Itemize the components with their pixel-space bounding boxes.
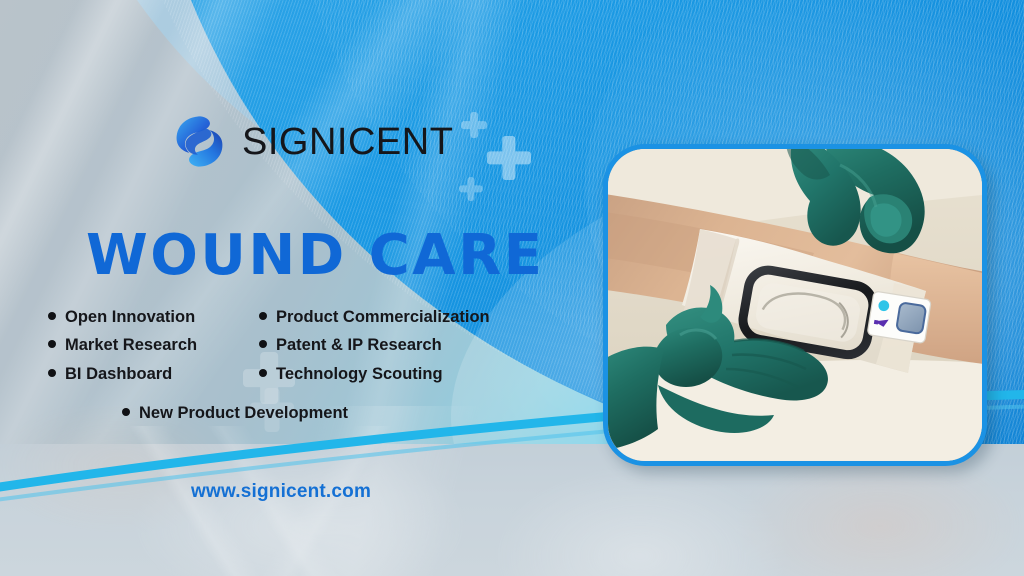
list-item: Market Research xyxy=(48,336,243,355)
list-item: Technology Scouting xyxy=(259,365,490,384)
services-list: Open Innovation Market Research BI Dashb… xyxy=(48,308,568,384)
brand-logo-lockup[interactable]: SIGNICENT xyxy=(171,113,453,170)
service-label: Open Innovation xyxy=(65,308,195,327)
medical-plus-icon xyxy=(487,136,531,180)
service-label: Technology Scouting xyxy=(276,365,443,384)
hero-photo-card xyxy=(603,144,987,466)
service-label: New Product Development xyxy=(139,404,348,423)
bullet-dot-icon xyxy=(122,408,130,416)
bullet-dot-icon xyxy=(48,312,56,320)
bullet-dot-icon xyxy=(48,369,56,377)
bullet-dot-icon xyxy=(259,369,267,377)
website-url[interactable]: www.signicent.com xyxy=(191,481,371,503)
medical-plus-icon xyxy=(461,112,487,138)
services-column-right: Product Commercialization Patent & IP Re… xyxy=(259,308,490,384)
list-item: Product Commercialization xyxy=(259,308,490,327)
list-item: Patent & IP Research xyxy=(259,336,490,355)
wound-care-marketing-banner: SIGNICENT WOUND CARE Open Innovation Mar… xyxy=(0,0,1024,576)
bullet-dot-icon xyxy=(259,312,267,320)
services-column-left: Open Innovation Market Research BI Dashb… xyxy=(48,308,243,384)
list-item: New Product Development xyxy=(122,404,348,423)
list-item: BI Dashboard xyxy=(48,365,243,384)
page-title: WOUND CARE xyxy=(86,228,545,284)
brand-name: SIGNICENT xyxy=(242,123,453,161)
service-label: Market Research xyxy=(65,336,197,355)
bullet-dot-icon xyxy=(259,340,267,348)
medical-plus-icon xyxy=(459,177,483,201)
wound-dressing-photo xyxy=(608,149,982,461)
service-label: Patent & IP Research xyxy=(276,336,442,355)
service-label: Product Commercialization xyxy=(276,308,490,327)
service-label: BI Dashboard xyxy=(65,365,172,384)
signicent-s-logo-icon xyxy=(171,113,228,170)
bullet-dot-icon xyxy=(48,340,56,348)
list-item: Open Innovation xyxy=(48,308,243,327)
